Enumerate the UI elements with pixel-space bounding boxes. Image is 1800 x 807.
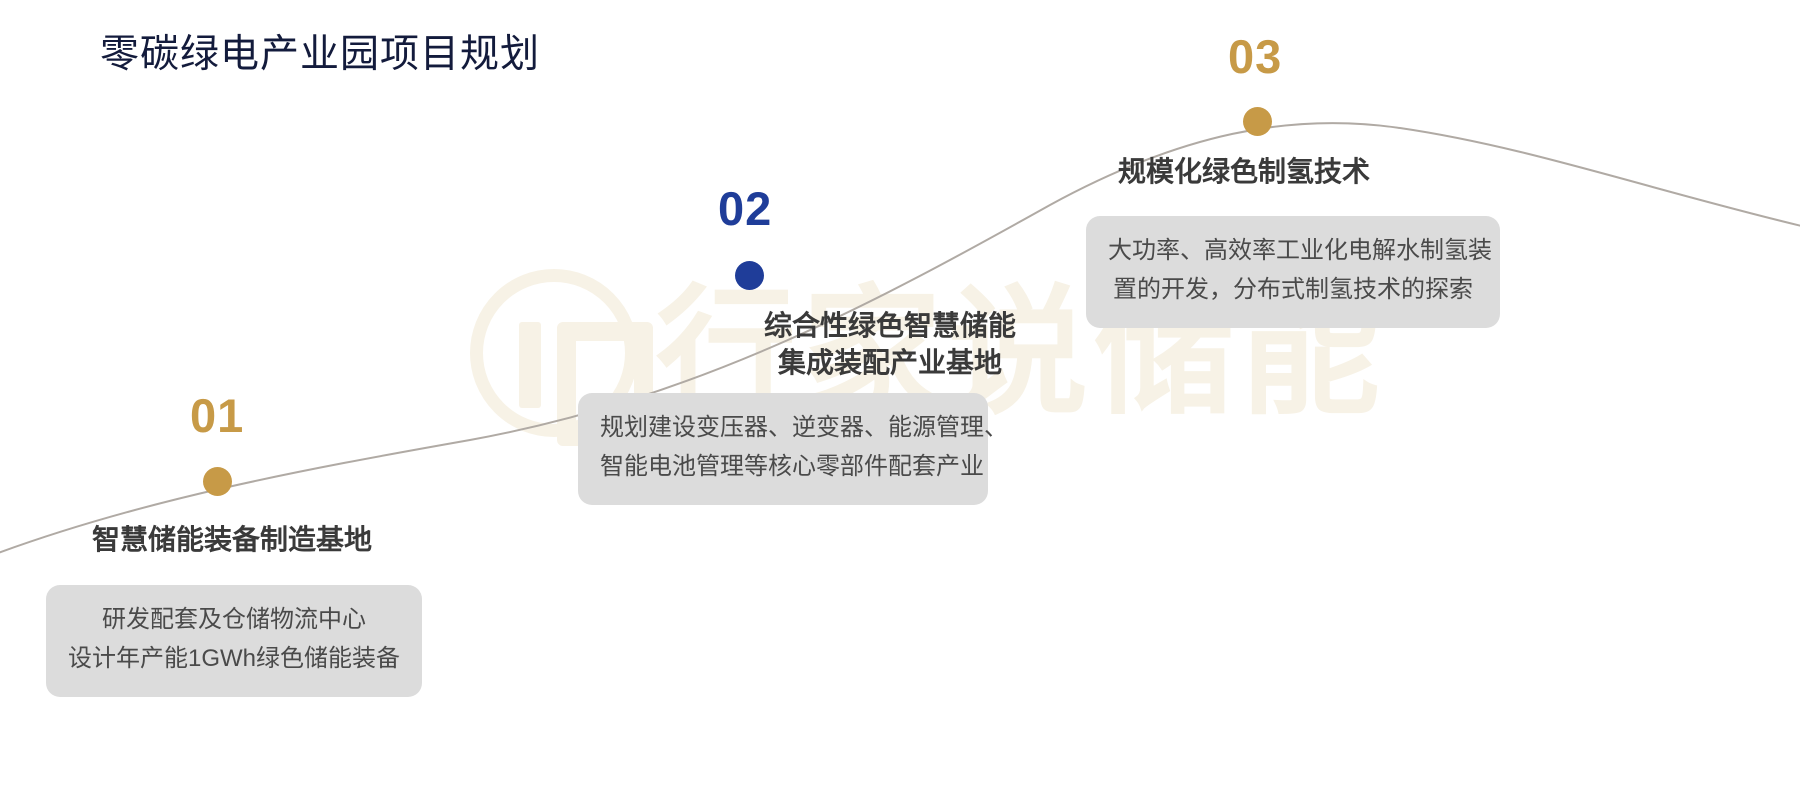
milestone-03-description-box: 大功率、高效率工业化电解水制氢装 置的开发，分布式制氢技术的探索 (1086, 216, 1500, 328)
milestone-03-dot (1243, 107, 1272, 136)
milestone-02-dot (735, 261, 764, 290)
page-title: 零碳绿电产业园项目规划 (100, 32, 540, 79)
milestone-02-number: 02 (718, 185, 772, 232)
milestone-02-description-box: 规划建设变压器、逆变器、能源管理、 智能电池管理等核心零部件配套产业 (578, 393, 988, 505)
milestone-01-number: 01 (190, 392, 244, 439)
milestone-02-description-line-2: 智能电池管理等核心零部件配套产业 (600, 448, 966, 487)
milestone-01-heading: 智慧储能装备制造基地 (92, 521, 372, 558)
milestone-01-description-line-2: 设计年产能1GWh绿色储能装备 (68, 640, 400, 679)
milestone-02-description-line-1: 规划建设变压器、逆变器、能源管理、 (600, 409, 966, 448)
milestone-01-description-line-1: 研发配套及仓储物流中心 (68, 601, 400, 640)
milestone-01-description-box: 研发配套及仓储物流中心 设计年产能1GWh绿色储能装备 (46, 585, 422, 697)
milestone-03-description-line-1: 大功率、高效率工业化电解水制氢装 (1108, 232, 1478, 271)
milestone-02-heading-line-1: 综合性绿色智慧储能 (764, 307, 1016, 344)
milestone-03-description-line-2: 置的开发，分布式制氢技术的探索 (1108, 271, 1478, 310)
infographic-canvas: 行家说储能 零碳绿电产业园项目规划 01 智慧储能装备制造基地 研发配套及仓储物… (0, 0, 1800, 807)
milestone-03-number: 03 (1228, 33, 1282, 80)
milestone-02-heading-line-2: 集成装配产业基地 (764, 344, 1016, 381)
milestone-01-dot (203, 467, 232, 496)
milestone-02-heading: 综合性绿色智慧储能 集成装配产业基地 (764, 307, 1016, 381)
milestone-03-heading: 规模化绿色制氢技术 (1118, 153, 1370, 190)
